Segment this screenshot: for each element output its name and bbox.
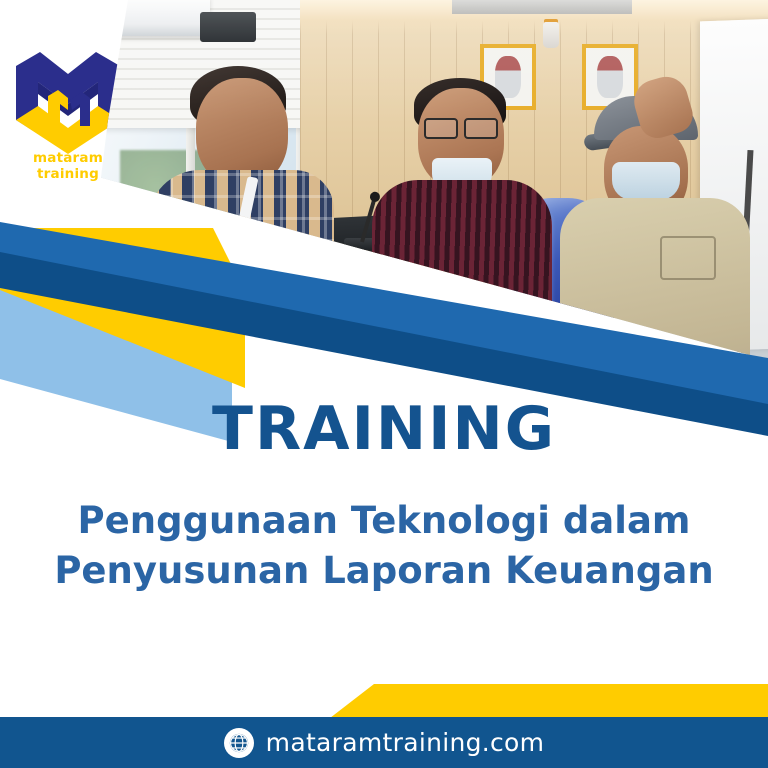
subtitle-line-1: Penggunaan Teknologi dalam [40, 496, 728, 546]
poster-canvas: mataram training TRAINING Penggunaan Tek… [0, 0, 768, 768]
footer-website-url[interactable]: mataramtraining.com [266, 728, 545, 757]
projection-screen [452, 0, 632, 14]
eyeglasses-icon [424, 118, 498, 135]
subtitle-line-2: Penyusunan Laporan Keuangan [40, 546, 728, 596]
footer-yellow-accent [330, 684, 768, 718]
footer-content: mataramtraining.com [0, 717, 768, 768]
page-subtitle: Penggunaan Teknologi dalam Penyusunan La… [40, 496, 728, 595]
ceiling-speaker-icon [200, 12, 256, 42]
globe-icon [224, 728, 254, 758]
jacket-pocket [660, 236, 716, 280]
ribbon-yellow [0, 228, 245, 388]
water-gallon [104, 196, 156, 264]
face-mask-icon [612, 162, 680, 200]
person-left-badge [230, 282, 266, 330]
page-title: TRAINING [0, 394, 768, 464]
shelf-trophy-icon [543, 22, 559, 48]
